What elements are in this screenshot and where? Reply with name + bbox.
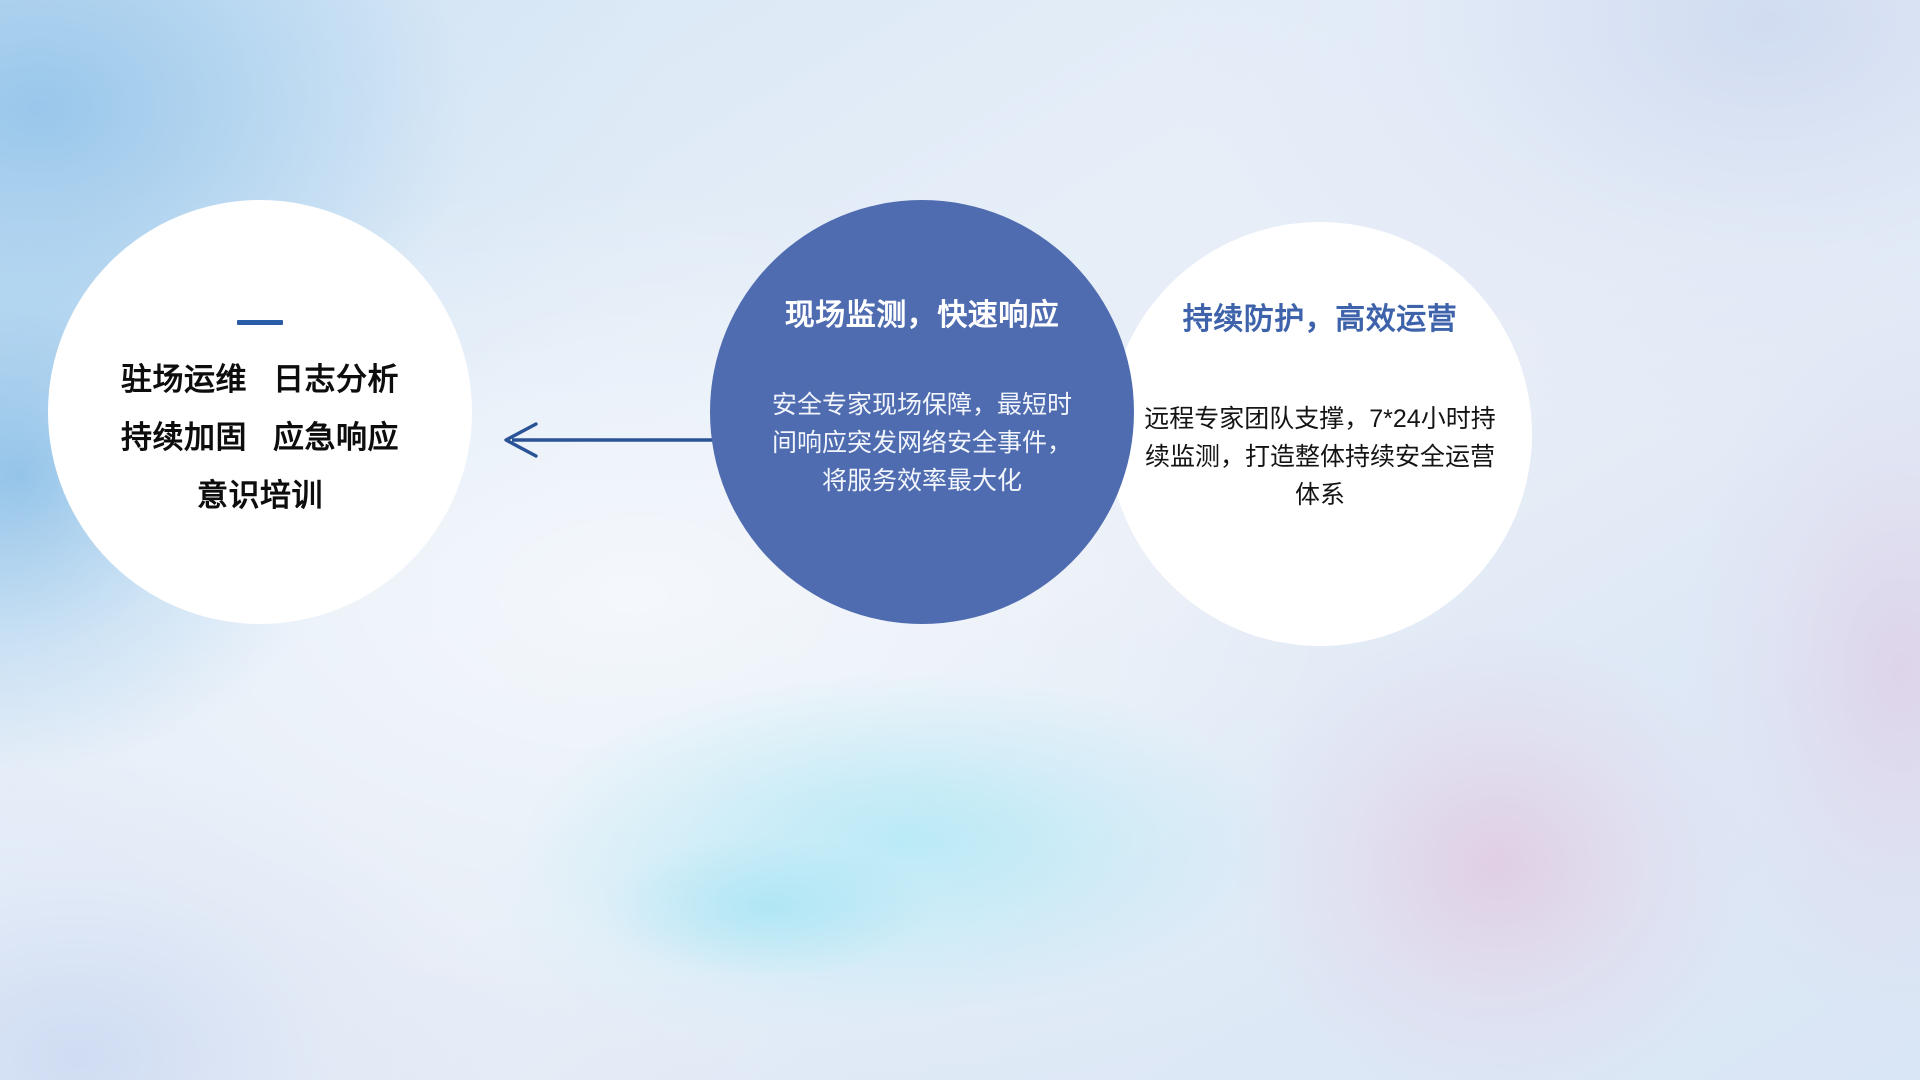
- right-circle-title: 持续防护，高效运营: [1183, 294, 1458, 338]
- keyword: 驻场运维: [121, 362, 247, 397]
- list-item: 意识培训: [197, 479, 323, 513]
- list-item: 持续加固应急响应: [121, 421, 399, 455]
- middle-circle-content: 现场监测，快速响应 安全专家现场保障，最短时间响应突发网络安全事件，将服务效率最…: [710, 200, 1134, 624]
- slide-canvas: 驻场运维日志分析 持续加固应急响应 意识培训 现场监测，快速响应 安全专家现场保…: [0, 0, 1920, 1080]
- keyword: 持续加固: [121, 420, 247, 455]
- right-circle-content: 持续防护，高效运营 远程专家团队支撑，7*24小时持续监测，打造整体持续安全运营…: [1108, 222, 1532, 646]
- middle-circle-body: 安全专家现场保障，最短时间响应突发网络安全事件，将服务效率最大化: [767, 386, 1077, 500]
- middle-circle-title: 现场监测，快速响应: [785, 290, 1060, 334]
- service-keyword-list: 驻场运维日志分析 持续加固应急响应 意识培训: [121, 363, 399, 513]
- list-item: 驻场运维日志分析: [121, 363, 399, 397]
- keyword: 应急响应: [273, 420, 399, 455]
- right-circle-body: 远程专家团队支撑，7*24小时持续监测，打造整体持续安全运营体系: [1144, 400, 1496, 514]
- blue-dash-icon: [237, 320, 283, 325]
- keyword: 日志分析: [273, 362, 399, 397]
- keyword: 意识培训: [197, 478, 323, 513]
- left-white-circle: 驻场运维日志分析 持续加固应急响应 意识培训: [48, 200, 472, 624]
